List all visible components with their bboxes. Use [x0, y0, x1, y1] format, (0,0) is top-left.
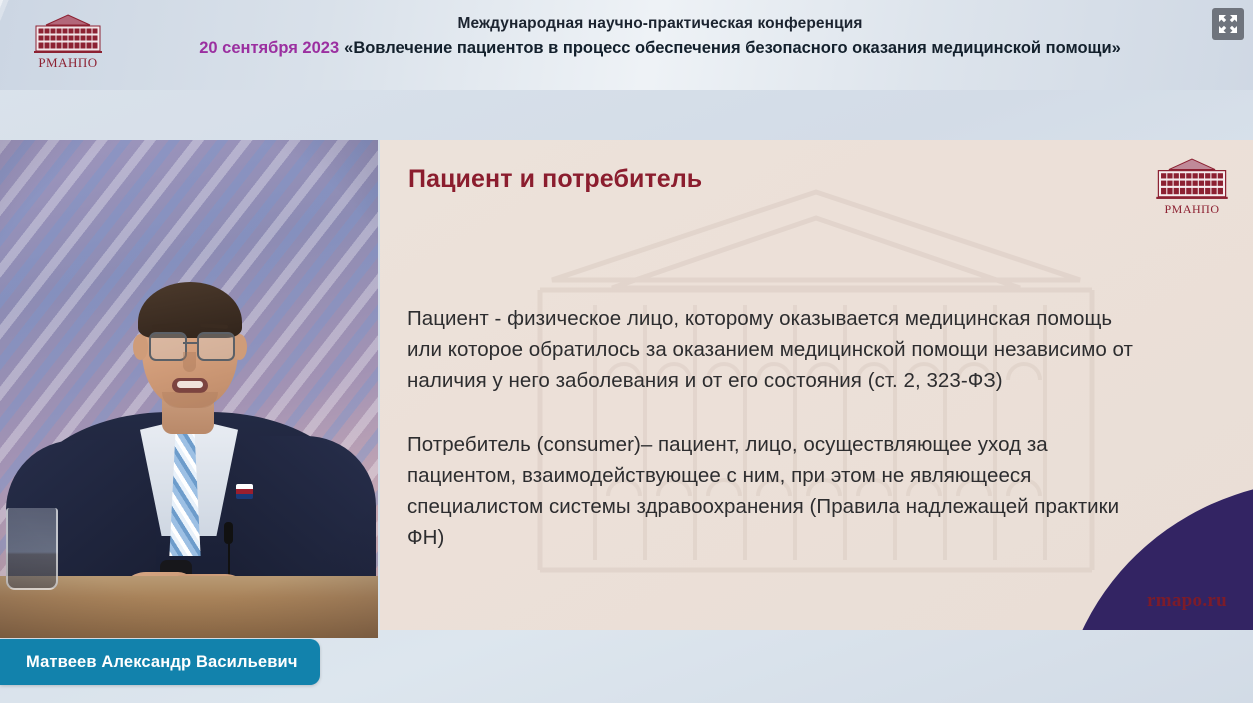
fullscreen-button[interactable] — [1212, 8, 1244, 40]
rmanpo-wordmark-header: РМАНПО — [38, 56, 97, 69]
conference-title-line: 20 сентября 2023«Вовлечение пациентов в … — [130, 37, 1190, 59]
conference-date: 20 сентября 2023 — [199, 39, 339, 57]
speaker-video-pane[interactable] — [0, 140, 378, 638]
conference-header: РМАНПО Международная научно-практическая… — [0, 0, 1253, 90]
fullscreen-expand-icon — [1218, 14, 1238, 34]
header-inner: РМАНПО Международная научно-практическая… — [0, 0, 1253, 90]
presentation-slide[interactable]: Пациент и потребитель — [380, 140, 1253, 630]
slide-body: Пациент - физическое лицо, которому оказ… — [407, 282, 1137, 573]
header-text-block: Международная научно-практическая конфер… — [130, 14, 1190, 59]
slide-title: Пациент и потребитель — [408, 165, 702, 194]
speaker-name-label: Матвеев Александр Васильевич — [26, 653, 298, 672]
video-vignette — [0, 140, 378, 638]
rmanpo-building-icon-slide — [1153, 158, 1231, 200]
conference-title: «Вовлечение пациентов в процесс обеспече… — [344, 39, 1121, 57]
rmanpo-logo-slide: РМАНПО — [1153, 158, 1231, 215]
rmanpo-logo-header: РМАНПО — [32, 14, 104, 69]
conference-subtitle: Международная научно-практическая конфер… — [130, 14, 1190, 34]
slide-paragraph-patient: Пациент - физическое лицо, которому оказ… — [407, 303, 1137, 396]
rmanpo-building-icon — [32, 14, 104, 54]
slide-paragraph-consumer: Потребитель (consumer)– пациент, лицо, о… — [407, 429, 1137, 553]
rmanpo-wordmark-slide: РМАНПО — [1164, 203, 1219, 215]
slide-website-url: rmapo.ru — [1147, 590, 1227, 612]
speaker-name-badge[interactable]: Матвеев Александр Васильевич — [0, 639, 320, 685]
